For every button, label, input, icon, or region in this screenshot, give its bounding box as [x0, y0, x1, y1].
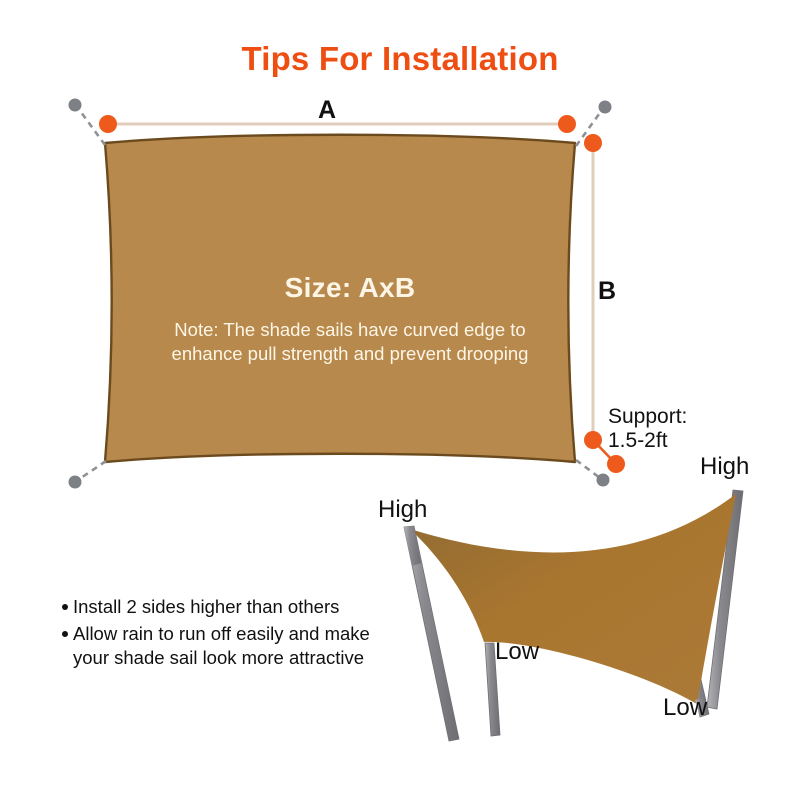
- bullet-dot-icon: [62, 631, 68, 637]
- tips-list-item-line-a: Allow rain to run off easily and make: [73, 623, 370, 644]
- tips-list-item-text: Allow rain to run off easily and make yo…: [73, 622, 412, 671]
- pole-label-high-left: High: [378, 498, 427, 522]
- dimension-line-a: [105, 121, 570, 128]
- sail-size-text: Size: AxB: [150, 272, 550, 304]
- anchor-dot-a-left: [99, 115, 117, 133]
- pole-label-low-right: Low: [663, 696, 707, 720]
- guide-dot-top-left: [69, 99, 82, 112]
- sail-note-text: Note: The shade sails have curved edge t…: [128, 318, 572, 365]
- anchor-dot-b-top: [584, 134, 602, 152]
- tips-list-item: Allow rain to run off easily and make yo…: [62, 622, 412, 671]
- tips-list-item-line-b: your shade sail look more attractive: [73, 647, 364, 668]
- tips-list: Install 2 sides higher than others Allow…: [62, 595, 412, 673]
- sail-note-line-1: Note: The shade sails have curved edge t…: [128, 318, 572, 342]
- diagram-canvas: [0, 0, 800, 800]
- support-note-line-2: 1.5-2ft: [608, 429, 758, 453]
- guide-dot-top-right: [599, 101, 612, 114]
- dimension-label-b: B: [598, 279, 616, 304]
- hypar-topside: [410, 494, 736, 704]
- support-note-line-1: Support:: [608, 405, 758, 429]
- support-note: Support: 1.5-2ft: [608, 405, 758, 453]
- sail-note-line-2: enhance pull strength and prevent droopi…: [128, 342, 572, 366]
- tips-list-item-text: Install 2 sides higher than others: [73, 595, 412, 620]
- pole-label-high-right: High: [700, 455, 749, 479]
- dimension-label-a: A: [318, 98, 336, 123]
- pole-label-low-left: Low: [495, 640, 539, 664]
- anchor-dot-b-bottom: [584, 431, 602, 449]
- tips-list-item: Install 2 sides higher than others: [62, 595, 412, 620]
- anchor-dot-a-right: [558, 115, 576, 133]
- bullet-dot-icon: [62, 604, 68, 610]
- installation-tips-infographic: Tips For Installation: [0, 0, 800, 800]
- anchor-dot-support: [607, 455, 625, 473]
- guide-dot-bottom-right: [597, 474, 610, 487]
- guide-dot-bottom-left: [69, 476, 82, 489]
